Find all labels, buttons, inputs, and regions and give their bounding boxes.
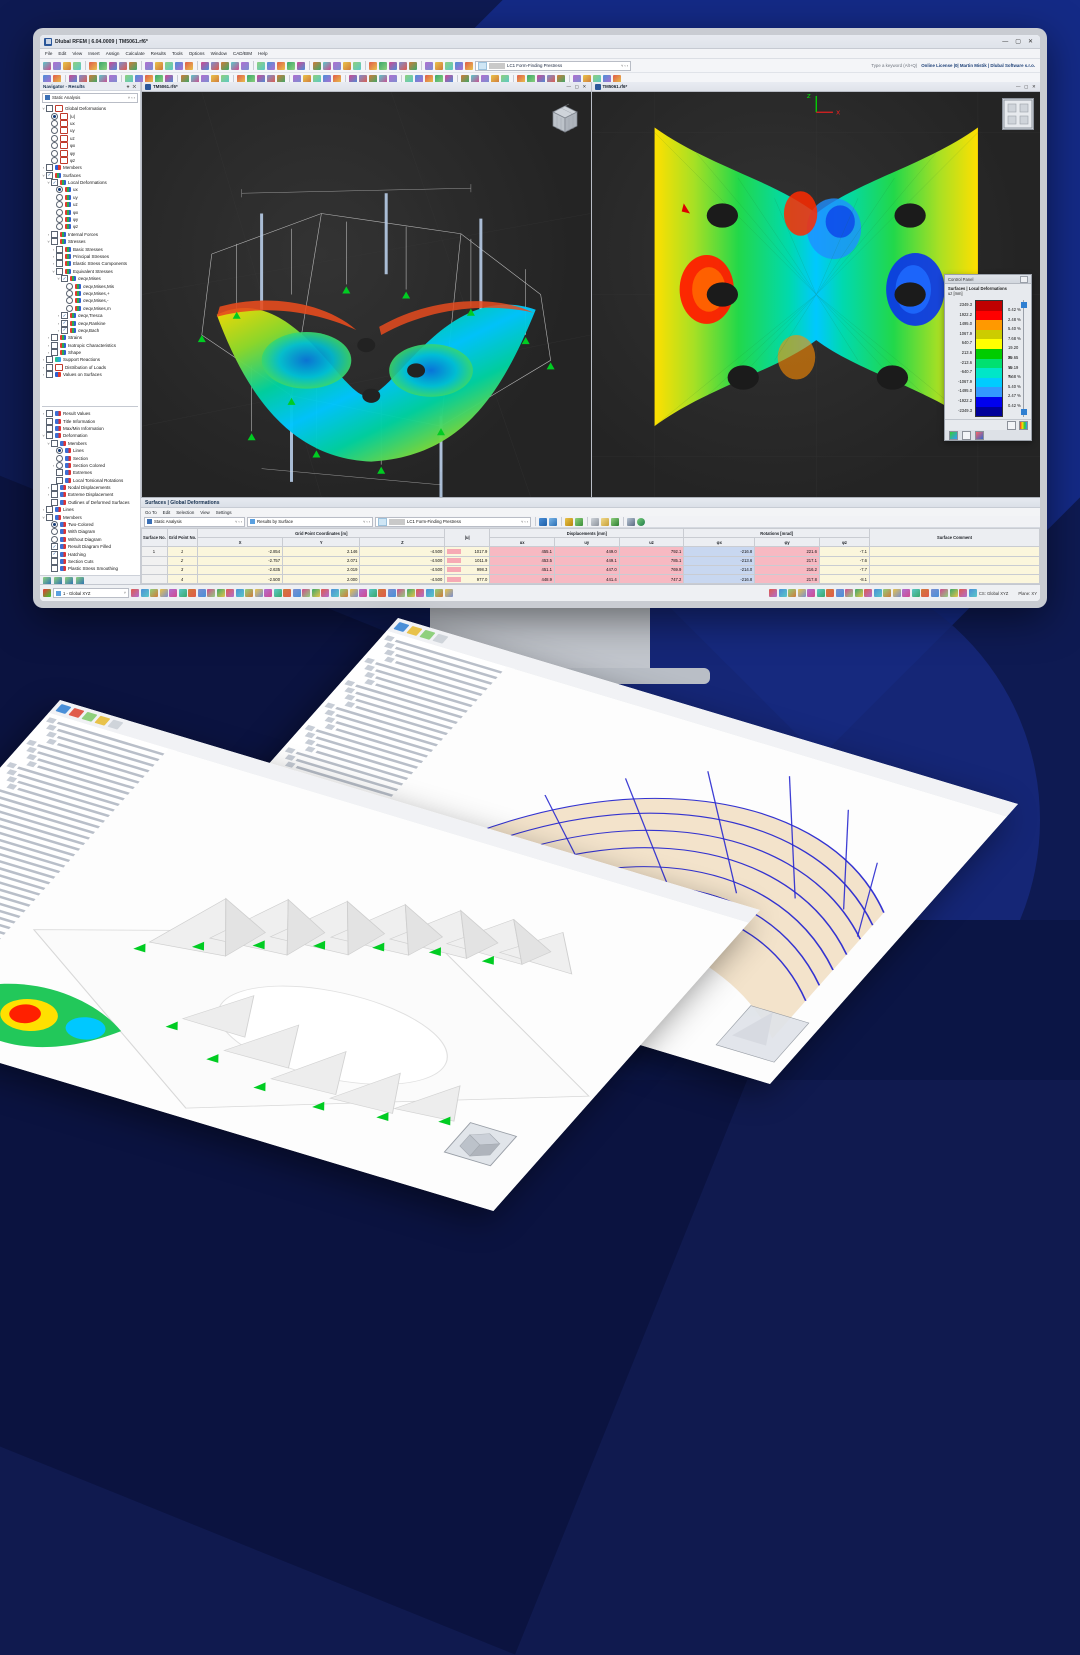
cell-ux[interactable]: 451.1	[490, 565, 555, 574]
tree-node[interactable]: |u|	[41, 112, 140, 119]
view-tool-icon-14[interactable]	[902, 589, 910, 597]
toolbar-icon-26[interactable]	[221, 62, 229, 70]
checkbox[interactable]	[51, 179, 58, 186]
view-cube-left[interactable]	[547, 100, 583, 136]
checkbox[interactable]	[46, 432, 53, 439]
toolbar-icon-4[interactable]	[425, 62, 433, 70]
tree-node[interactable]: φz	[41, 157, 140, 164]
cell-uy[interactable]: 449.1	[554, 556, 619, 565]
settings-icon[interactable]	[627, 518, 635, 526]
view-tool-icon-0[interactable]	[769, 589, 777, 597]
menu-item-window[interactable]: Window	[211, 51, 227, 56]
menu-item-cad-bim[interactable]: CAD/BIM	[233, 51, 252, 56]
cell-surface[interactable]: 1	[142, 547, 168, 556]
cell-uz[interactable]: 785.1	[619, 556, 684, 565]
tree-node[interactable]: ›Shape	[41, 349, 140, 356]
snap-tool-icon-0[interactable]	[131, 589, 139, 597]
cell-py[interactable]: 217.1	[755, 556, 820, 565]
toolbar-icon-42[interactable]	[73, 62, 81, 70]
minimize-button[interactable]: —	[1002, 39, 1008, 45]
results-table[interactable]: Surface No. Grid Point No. Grid Point Co…	[141, 528, 1040, 589]
checkbox[interactable]	[51, 342, 58, 349]
toolbar-icon-38[interactable]	[109, 62, 117, 70]
view-navigator-right[interactable]	[1002, 98, 1034, 130]
cell-uy[interactable]: 449.0	[554, 547, 619, 556]
radio-button[interactable]	[56, 455, 63, 462]
cell-y[interactable]: 2.146	[283, 547, 360, 556]
snap-tool-icon-29[interactable]	[407, 589, 415, 597]
checkbox[interactable]	[56, 477, 63, 484]
radio-button[interactable]	[56, 216, 63, 223]
snap-tool-icon-21[interactable]	[331, 589, 339, 597]
view-tool-icon-6[interactable]	[826, 589, 834, 597]
table-results-mode-selector[interactable]: Results by Surface ˅ ‹ ›	[247, 517, 373, 527]
radio-button[interactable]	[51, 127, 58, 134]
view-tool-icon-18[interactable]	[940, 589, 948, 597]
toolbar-icon-24[interactable]	[241, 62, 249, 70]
snap-tool-icon-23[interactable]	[350, 589, 358, 597]
tree-node[interactable]: ˅Surfaces	[41, 172, 140, 179]
checkbox[interactable]	[51, 334, 58, 341]
radio-button[interactable]	[51, 113, 58, 120]
view-tool-icon-5[interactable]	[817, 589, 825, 597]
cell-u[interactable]: 977.0	[445, 574, 490, 583]
tree-node[interactable]: φy	[41, 216, 140, 223]
snap-tool-icon-25[interactable]	[369, 589, 377, 597]
toolbar-icon-34[interactable]	[145, 62, 153, 70]
cell-y[interactable]: 2.071	[283, 556, 360, 565]
table-row[interactable]: 11-2.8542.146-4.5001017.9455.1449.0792.1…	[142, 547, 1040, 556]
checkbox[interactable]	[56, 268, 63, 275]
radio-button[interactable]	[51, 135, 58, 142]
checkbox[interactable]	[61, 320, 68, 327]
tree-node[interactable]: Section	[41, 454, 140, 461]
snap-tool-icon-30[interactable]	[416, 589, 424, 597]
checkbox[interactable]	[46, 172, 53, 179]
menu-item-results[interactable]: Results	[151, 51, 166, 56]
tree-node[interactable]: Local Torsional Rotations	[41, 477, 140, 484]
toolbar-icon-10[interactable]	[369, 62, 377, 70]
print-icon[interactable]	[591, 518, 599, 526]
menu-item-file[interactable]: File	[45, 51, 52, 56]
toolbar-icon-33[interactable]	[155, 62, 163, 70]
radio-button[interactable]	[56, 209, 63, 216]
cell-px[interactable]: -214.0	[684, 565, 755, 574]
snap-tool-icon-32[interactable]	[435, 589, 443, 597]
table-menu-selection[interactable]: Selection	[176, 510, 194, 515]
snap-tool-icon-17[interactable]	[293, 589, 301, 597]
tree-node[interactable]: ›Strains	[41, 334, 140, 341]
tree-node[interactable]: ˅Global Deformations	[41, 105, 140, 112]
import-icon[interactable]	[575, 518, 583, 526]
cell-pz[interactable]: -7.6	[819, 556, 869, 565]
tree-node[interactable]: ˅Members	[41, 513, 140, 520]
radio-button[interactable]	[51, 521, 58, 528]
tree-node[interactable]: Two-Colored	[41, 521, 140, 528]
cell-y[interactable]: 2.000	[283, 574, 360, 583]
menu-item-assign[interactable]: Assign	[106, 51, 120, 56]
radio-button[interactable]	[56, 447, 63, 454]
tree-node[interactable]: Plastic Stress Smoothing	[41, 565, 140, 572]
cell-u[interactable]: 1011.9	[445, 556, 490, 565]
view-tool-icon-4[interactable]	[807, 589, 815, 597]
snap-tool-icon-5[interactable]	[179, 589, 187, 597]
menu-item-help[interactable]: Help	[258, 51, 267, 56]
radio-button[interactable]	[51, 157, 58, 164]
tree-node[interactable]: ›Basic Stresses	[41, 245, 140, 252]
cell-point[interactable]: 1	[167, 547, 198, 556]
cell-comment[interactable]	[870, 547, 1040, 556]
radio-button[interactable]	[66, 283, 73, 290]
cell-uz[interactable]: 747.2	[619, 574, 684, 583]
navigator-display-tree[interactable]: ›Result ValuesTitle InformationMax/Min I…	[40, 409, 140, 575]
tree-node[interactable]: Section Cuts	[41, 558, 140, 565]
checkbox[interactable]	[51, 238, 58, 245]
view-tool-icon-2[interactable]	[788, 589, 796, 597]
factors-tab-icon[interactable]	[949, 431, 958, 440]
tree-node[interactable]: Result Diagram Filled	[41, 543, 140, 550]
menu-item-tools[interactable]: Tools	[172, 51, 183, 56]
checkbox[interactable]	[61, 312, 68, 319]
table-load-case-selector[interactable]: LC1 Form-Finding Prestress ˅ ‹ ›	[375, 517, 531, 527]
cell-uy[interactable]: 441.4	[554, 574, 619, 583]
checkbox[interactable]	[51, 484, 58, 491]
tree-node[interactable]: φx	[41, 208, 140, 215]
tree-node[interactable]: ux	[41, 186, 140, 193]
navigator-results-tree[interactable]: ˅Global Deformations|u|uxuyuzφxφyφz›Memb…	[40, 104, 140, 404]
checkbox[interactable]	[51, 558, 58, 565]
cell-py[interactable]: 221.6	[755, 547, 820, 556]
cell-comment[interactable]	[870, 556, 1040, 565]
toolbar-icon-27[interactable]	[211, 62, 219, 70]
cell-x[interactable]: -2.500	[198, 574, 283, 583]
toolbar-icon-39[interactable]	[99, 62, 107, 70]
snap-tool-icon-24[interactable]	[359, 589, 367, 597]
view-tool-icon-8[interactable]	[845, 589, 853, 597]
snap-tool-icon-28[interactable]	[397, 589, 405, 597]
cell-px[interactable]: -213.6	[684, 556, 755, 565]
toolbar-icon-6[interactable]	[409, 62, 417, 70]
radio-button[interactable]	[51, 528, 58, 535]
close-button[interactable]: ✕	[1028, 39, 1033, 45]
tree-node[interactable]: Without Diagram	[41, 536, 140, 543]
checkbox[interactable]	[46, 418, 53, 425]
snap-tool-icon-13[interactable]	[255, 589, 263, 597]
checkbox[interactable]	[56, 260, 63, 267]
tree-node[interactable]: ˅Equivalent Stresses	[41, 268, 140, 275]
tree-node[interactable]: ˅Local Deformations	[41, 179, 140, 186]
checkbox[interactable]	[51, 349, 58, 356]
snap-tool-icon-2[interactable]	[150, 589, 158, 597]
tree-node[interactable]: Hatching	[41, 550, 140, 557]
toolbar-icon-37[interactable]	[119, 62, 127, 70]
cell-pz[interactable]: -7.7	[819, 565, 869, 574]
tree-node[interactable]: Title Information	[41, 417, 140, 424]
checkbox[interactable]	[56, 253, 63, 260]
toolbar-icon-28[interactable]	[201, 62, 209, 70]
checkbox[interactable]	[46, 164, 53, 171]
cell-ux[interactable]: 453.5	[490, 556, 555, 565]
checkbox[interactable]	[46, 356, 53, 363]
globe-icon[interactable]	[637, 518, 645, 526]
snap-tool-icon-22[interactable]	[340, 589, 348, 597]
control-panel-tabs[interactable]	[945, 430, 1031, 440]
tree-node[interactable]: ›Result Values	[41, 410, 140, 417]
viewport-left-window-controls[interactable]: — ▢ ✕	[566, 84, 587, 90]
toolbar-icon-16[interactable]	[313, 62, 321, 70]
tree-node[interactable]: uz	[41, 135, 140, 142]
view-tool-icon-12[interactable]	[883, 589, 891, 597]
checkbox[interactable]	[51, 543, 58, 550]
cell-y[interactable]: 2.019	[283, 565, 360, 574]
results-grid[interactable]: Surface No. Grid Point No. Grid Point Co…	[141, 528, 1040, 589]
tree-node[interactable]: ›Lines	[41, 506, 140, 513]
toolbar-icon-3[interactable]	[435, 62, 443, 70]
printout-report-icon[interactable]	[601, 518, 609, 526]
cell-z[interactable]: -4.500	[360, 547, 445, 556]
filter-tab-icon[interactable]	[962, 431, 971, 440]
toolbar-icon-12[interactable]	[353, 62, 361, 70]
cell-uz[interactable]: 769.9	[619, 565, 684, 574]
viewport-right-window-controls[interactable]: — ▢ ✕	[1016, 84, 1037, 90]
checkbox[interactable]	[46, 364, 53, 371]
color-scale-slider[interactable]	[1022, 300, 1028, 417]
view-tool-icon-13[interactable]	[893, 589, 901, 597]
tree-node[interactable]: σeqv,Mises,Mis	[41, 282, 140, 289]
menu-item-calculate[interactable]: Calculate	[126, 51, 145, 56]
cell-surface[interactable]	[142, 574, 168, 583]
tree-node[interactable]: ›Section Colored	[41, 462, 140, 469]
toolbar-icon-14[interactable]	[333, 62, 341, 70]
checkbox[interactable]	[56, 246, 63, 253]
toolbar-icon-1[interactable]	[455, 62, 463, 70]
menu-item-edit[interactable]: Edit	[58, 51, 66, 56]
search-icon[interactable]	[539, 518, 547, 526]
keyword-search-input[interactable]: Type a keyword (Alt+Q)	[871, 63, 917, 68]
tree-node[interactable]: uy	[41, 194, 140, 201]
toolbar-icon-31[interactable]	[175, 62, 183, 70]
checkbox[interactable]	[51, 440, 58, 447]
checkbox[interactable]	[46, 425, 53, 432]
coordinate-system-selector[interactable]: 1 - Global XYZ ˅	[53, 588, 129, 598]
view-tool-icon-19[interactable]	[950, 589, 958, 597]
cell-x[interactable]: -2.757	[198, 556, 283, 565]
table-row[interactable]: 3-2.6352.019-4.500998.3451.1447.0769.9-2…	[142, 565, 1040, 574]
viewport-right-tab[interactable]: TM5061.rf6* — ▢ ✕	[592, 82, 1041, 92]
tree-node[interactable]: ˅Members	[41, 440, 140, 447]
toolbar-icon-40[interactable]	[89, 62, 97, 70]
cell-uz[interactable]: 792.1	[619, 547, 684, 556]
cell-px[interactable]: -216.8	[684, 574, 755, 583]
table-menu-settings[interactable]: Settings	[216, 510, 232, 515]
tree-node[interactable]: ›Extreme Displacement	[41, 491, 140, 498]
tree-node[interactable]: ux	[41, 120, 140, 127]
toolbar-icon-25[interactable]	[231, 62, 239, 70]
cell-x[interactable]: -2.854	[198, 547, 283, 556]
checkbox[interactable]	[61, 275, 68, 282]
tree-node[interactable]: φy	[41, 149, 140, 156]
table-menu-edit[interactable]: Edit	[163, 510, 171, 515]
tree-node[interactable]: ›Support Reactions	[41, 356, 140, 363]
tree-node[interactable]: ˅Stresses	[41, 238, 140, 245]
viewport-right-canvas[interactable]: x z	[592, 92, 1041, 497]
tree-node[interactable]: σeqv,Mises,-	[41, 297, 140, 304]
snap-tool-icon-26[interactable]	[378, 589, 386, 597]
tree-node[interactable]: ›Isotropic Characteristics	[41, 342, 140, 349]
cell-pz[interactable]: -8.1	[819, 574, 869, 583]
checkbox[interactable]	[46, 506, 53, 513]
cell-u[interactable]: 1017.9	[445, 547, 490, 556]
tree-node[interactable]: ›σeqv,Rankine	[41, 319, 140, 326]
tree-node[interactable]: σeqv,Mises,m	[41, 305, 140, 312]
toolbar-icon-36[interactable]	[129, 62, 137, 70]
cell-comment[interactable]	[870, 565, 1040, 574]
view-tool-icon-11[interactable]	[874, 589, 882, 597]
radio-button[interactable]	[56, 462, 63, 469]
checkbox[interactable]	[51, 491, 58, 498]
menu-item-options[interactable]: Options	[189, 51, 205, 56]
snap-tool-icon-7[interactable]	[198, 589, 206, 597]
toolbar-icon-20[interactable]	[277, 62, 285, 70]
checkbox[interactable]	[61, 327, 68, 334]
view-tool-icon-21[interactable]	[969, 589, 977, 597]
snap-tool-icon-20[interactable]	[321, 589, 329, 597]
tree-node[interactable]: Max/Min Information	[41, 425, 140, 432]
checkbox[interactable]	[51, 551, 58, 558]
tree-node[interactable]: ›Members	[41, 164, 140, 171]
tree-node[interactable]: ›Elastic Stress Components	[41, 260, 140, 267]
cell-ux[interactable]: 455.1	[490, 547, 555, 556]
radio-button[interactable]	[56, 223, 63, 230]
toolbar-icon-9[interactable]	[379, 62, 387, 70]
tree-node[interactable]: σeqv,Mises,+	[41, 290, 140, 297]
checkbox[interactable]	[56, 469, 63, 476]
table-analysis-selector[interactable]: Static Analysis ˅ ‹ ›	[144, 517, 245, 527]
tree-node[interactable]: ›Principal Stresses	[41, 253, 140, 260]
menu-item-insert[interactable]: Insert	[88, 51, 100, 56]
cell-surface[interactable]	[142, 556, 168, 565]
snap-tool-icon-33[interactable]	[445, 589, 453, 597]
toolbar-icon-13[interactable]	[343, 62, 351, 70]
cell-point[interactable]: 2	[167, 556, 198, 565]
maximize-button[interactable]: ▢	[1015, 39, 1021, 45]
cell-ux[interactable]: 448.9	[490, 574, 555, 583]
cell-u[interactable]: 998.3	[445, 565, 490, 574]
toolbar-icon-21[interactable]	[267, 62, 275, 70]
cell-px[interactable]: -216.8	[684, 547, 755, 556]
tree-node[interactable]: ›σeqv,Bach	[41, 327, 140, 334]
radio-button[interactable]	[51, 120, 58, 127]
excel-export-icon[interactable]	[611, 518, 619, 526]
toolbar-icon-44[interactable]	[53, 62, 61, 70]
radio-button[interactable]	[66, 297, 73, 304]
view-tool-icon-3[interactable]	[798, 589, 806, 597]
cell-surface[interactable]	[142, 565, 168, 574]
tree-node[interactable]: Lines	[41, 447, 140, 454]
menu-item-view[interactable]: View	[72, 51, 82, 56]
radio-button[interactable]	[56, 194, 63, 201]
tree-node[interactable]: φz	[41, 223, 140, 230]
tree-node[interactable]: Extremes	[41, 469, 140, 476]
snap-tool-icon-4[interactable]	[169, 589, 177, 597]
viewport-left-tab[interactable]: TM5061.rf6* — ▢ ✕	[142, 82, 591, 92]
view-tool-icon-1[interactable]	[779, 589, 787, 597]
view-tool-icon-10[interactable]	[864, 589, 872, 597]
cell-z[interactable]: -4.500	[360, 556, 445, 565]
tree-node[interactable]: uz	[41, 201, 140, 208]
tree-node[interactable]: ›Nodal Displacements	[41, 484, 140, 491]
snap-tool-icon-3[interactable]	[160, 589, 168, 597]
toolbar-icon-45[interactable]	[43, 62, 51, 70]
tree-node[interactable]: ›σeqv,Tresca	[41, 312, 140, 319]
tree-node[interactable]: Outlines of Deformed Surfaces	[41, 499, 140, 506]
snap-tool-icon-11[interactable]	[236, 589, 244, 597]
snap-tool-icon-6[interactable]	[188, 589, 196, 597]
radio-button[interactable]	[51, 142, 58, 149]
snap-tool-icon-10[interactable]	[226, 589, 234, 597]
toolbar-icon-15[interactable]	[323, 62, 331, 70]
toolbar-icon-32[interactable]	[165, 62, 173, 70]
filter-icon[interactable]	[549, 518, 557, 526]
toolbar-icon-7[interactable]	[399, 62, 407, 70]
snap-tool-icon-27[interactable]	[388, 589, 396, 597]
cell-uy[interactable]: 447.0	[554, 565, 619, 574]
checkbox[interactable]	[51, 231, 58, 238]
cell-point[interactable]: 3	[167, 565, 198, 574]
cell-x[interactable]: -2.635	[198, 565, 283, 574]
tree-node[interactable]: ˅σeqv,Mises	[41, 275, 140, 282]
tree-node[interactable]: ›Values on Surfaces	[41, 371, 140, 378]
view-tool-icon-20[interactable]	[959, 589, 967, 597]
scale-settings-icon[interactable]	[1007, 421, 1016, 430]
tree-node[interactable]: ›Internal Forces	[41, 231, 140, 238]
viewport-left-canvas[interactable]	[142, 92, 591, 497]
toolbar-icon-8[interactable]	[389, 62, 397, 70]
view-tool-icon-16[interactable]	[921, 589, 929, 597]
tree-node[interactable]: With Diagram	[41, 528, 140, 535]
navigator-pin-close[interactable]: ⌖ ✕	[127, 84, 137, 89]
radio-button[interactable]	[56, 186, 63, 193]
toolbar-icon-43[interactable]	[63, 62, 71, 70]
checkbox[interactable]	[46, 105, 53, 112]
snap-tool-icon-14[interactable]	[264, 589, 272, 597]
checkbox[interactable]	[51, 499, 58, 506]
cell-z[interactable]: -4.500	[360, 565, 445, 574]
snap-tool-icon-19[interactable]	[312, 589, 320, 597]
cell-pz[interactable]: -7.1	[819, 547, 869, 556]
tree-node[interactable]: uy	[41, 127, 140, 134]
snap-tool-icon-1[interactable]	[141, 589, 149, 597]
view-tool-icon-17[interactable]	[931, 589, 939, 597]
toolbar-icon-30[interactable]	[185, 62, 193, 70]
checkbox[interactable]	[46, 410, 53, 417]
table-menu-view[interactable]: View	[200, 510, 209, 515]
view-tool-icon-15[interactable]	[912, 589, 920, 597]
export-icon[interactable]	[565, 518, 573, 526]
toolbar-icon-2[interactable]	[445, 62, 453, 70]
snap-tool-icon-18[interactable]	[302, 589, 310, 597]
control-panel-close-icon[interactable]	[1020, 276, 1028, 283]
checkbox[interactable]	[46, 371, 53, 378]
tree-node[interactable]: ˅Deformation	[41, 432, 140, 439]
tree-node[interactable]: φx	[41, 142, 140, 149]
view-tool-icon-7[interactable]	[836, 589, 844, 597]
radio-button[interactable]	[66, 305, 73, 312]
toolbar-icon-18[interactable]	[297, 62, 305, 70]
toolbar-icon-19[interactable]	[287, 62, 295, 70]
snap-tool-icon-9[interactable]	[217, 589, 225, 597]
control-panel[interactable]: Control Panel Surfaces | Local Deformati…	[944, 274, 1032, 441]
